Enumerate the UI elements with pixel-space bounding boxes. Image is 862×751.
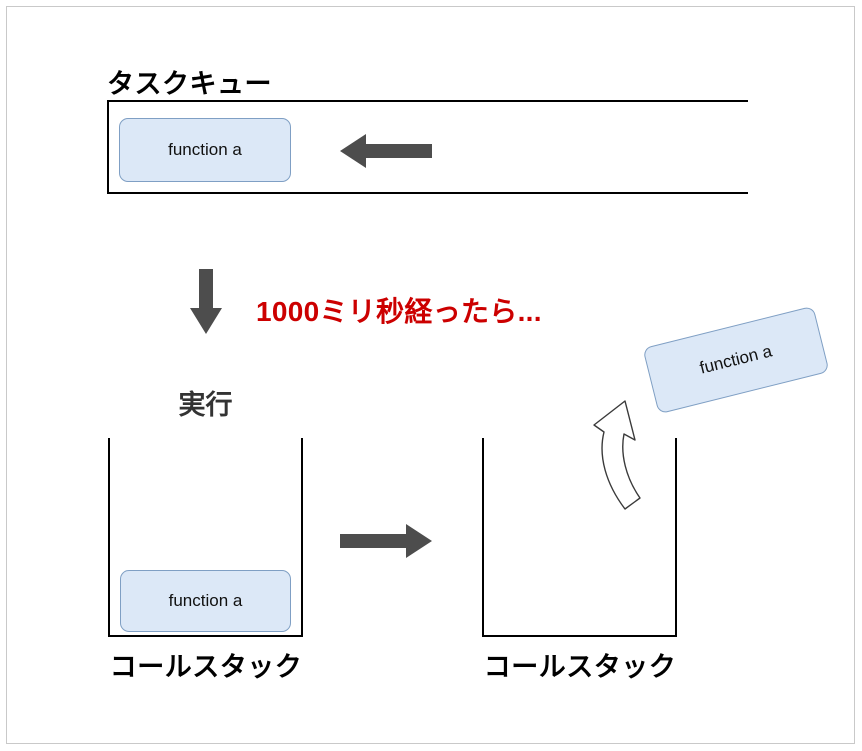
right-arrow-icon (336, 518, 436, 564)
task-queue-left-edge (107, 100, 109, 194)
task-queue-item[interactable]: function a (119, 118, 291, 182)
down-arrow-icon (186, 266, 226, 336)
timer-note: 1000ミリ秒経ったら... (256, 290, 542, 330)
left-arrow-icon (336, 128, 436, 174)
task-queue-bottom-edge (107, 192, 748, 194)
call-stack-left-label: コールスタック (108, 645, 304, 684)
task-queue-title: タスクキュー (107, 62, 272, 101)
call-stack-right-label: コールスタック (482, 645, 678, 684)
task-queue-top-edge (107, 100, 748, 102)
execute-label: 実行 (108, 383, 303, 422)
diagram-canvas: タスクキュー function a 1000ミリ秒経ったら... 実行 func… (0, 0, 862, 751)
call-stack-left-item[interactable]: function a (120, 570, 291, 632)
